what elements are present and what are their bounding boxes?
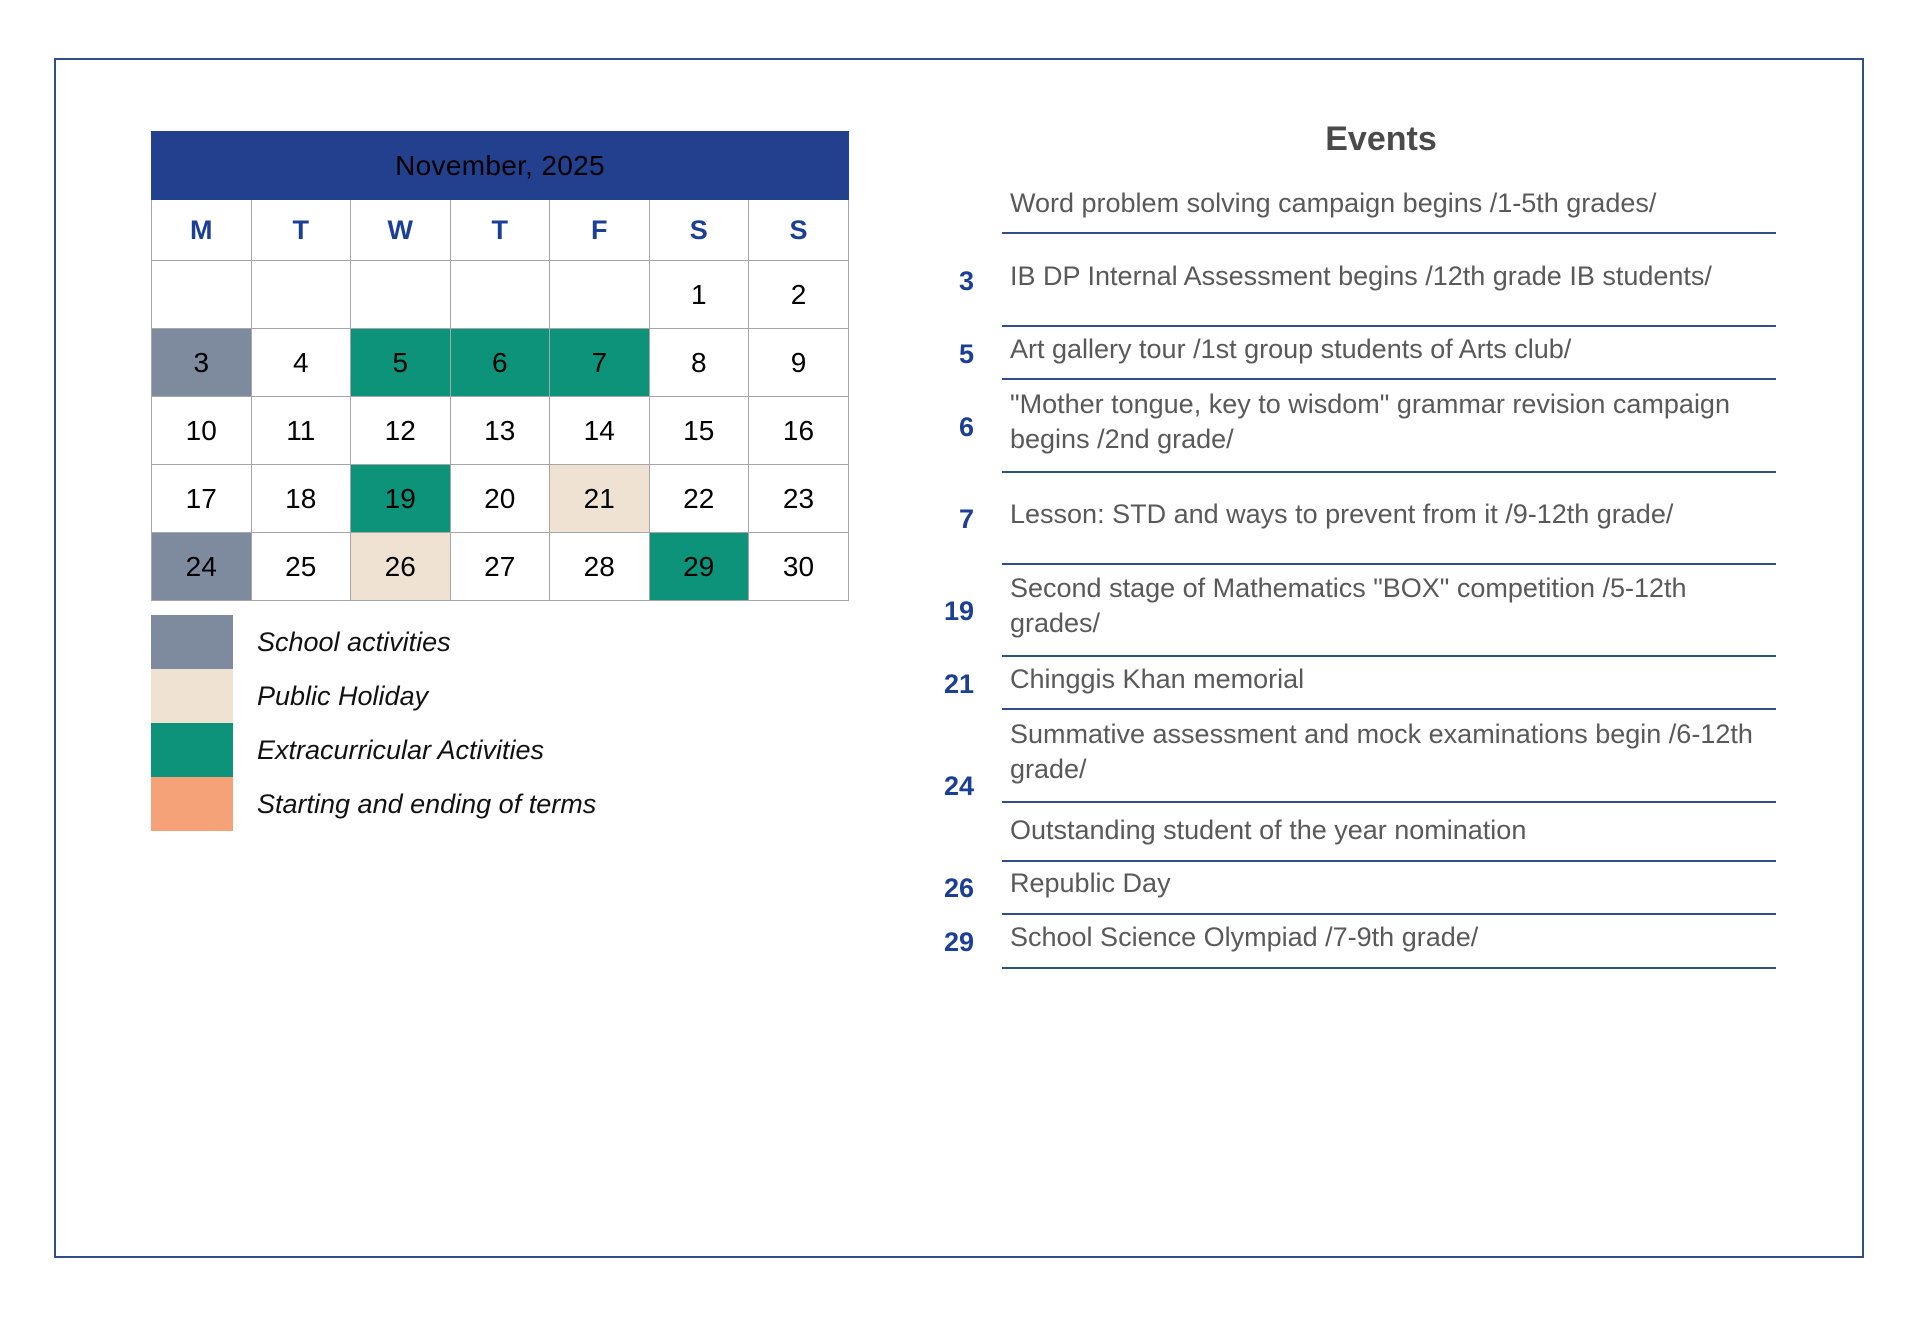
event-day-number: 26 xyxy=(926,862,1002,916)
calendar-day-17[interactable]: 17 xyxy=(152,465,252,533)
calendar-weekday-6: S xyxy=(749,200,849,261)
calendar-day-3[interactable]: 3 xyxy=(152,329,252,397)
calendar-day-11[interactable]: 11 xyxy=(251,397,351,465)
event-day-number: 29 xyxy=(926,916,1002,970)
event-texts: Summative assessment and mock examinatio… xyxy=(1002,711,1776,862)
calendar-body: 1234567891011121314151617181920212223242… xyxy=(152,261,849,601)
calendar-week-row: 10111213141516 xyxy=(152,397,849,465)
calendar-week-row: 17181920212223 xyxy=(152,465,849,533)
event-description: Second stage of Mathematics "BOX" compet… xyxy=(1002,565,1776,657)
event-texts: Second stage of Mathematics "BOX" compet… xyxy=(1002,565,1776,657)
event-day-number: 7 xyxy=(926,473,1002,565)
calendar-day-5[interactable]: 5 xyxy=(351,329,451,397)
event-row: 3IB DP Internal Assessment begins /12th … xyxy=(926,235,1776,327)
event-row: 21Chinggis Khan memorial xyxy=(926,657,1776,711)
calendar-weekday-1: T xyxy=(251,200,351,261)
legend-label: School activities xyxy=(257,627,451,658)
events-list: Word problem solving campaign begins /1-… xyxy=(926,181,1776,970)
calendar-day-6[interactable]: 6 xyxy=(450,329,550,397)
legend-swatch-icon xyxy=(151,669,233,723)
calendar-week-row: 12 xyxy=(152,261,849,329)
calendar-day-18[interactable]: 18 xyxy=(251,465,351,533)
event-description: Word problem solving campaign begins /1-… xyxy=(1002,182,1776,235)
event-day-number: 21 xyxy=(926,657,1002,711)
calendar-week-row: 24252627282930 xyxy=(152,533,849,601)
legend-item: School activities xyxy=(151,615,596,669)
calendar-day-empty xyxy=(251,261,351,329)
calendar-day-1[interactable]: 1 xyxy=(649,261,749,329)
calendar-day-26[interactable]: 26 xyxy=(351,533,451,601)
event-day-number xyxy=(926,181,1002,235)
calendar-day-28[interactable]: 28 xyxy=(550,533,650,601)
calendar-day-22[interactable]: 22 xyxy=(649,465,749,533)
event-day-number: 19 xyxy=(926,565,1002,657)
event-description: Art gallery tour /1st group students of … xyxy=(1002,328,1776,381)
calendar-week-row: 3456789 xyxy=(152,329,849,397)
event-day-number: 6 xyxy=(926,381,1002,473)
calendar-day-14[interactable]: 14 xyxy=(550,397,650,465)
calendar-day-24[interactable]: 24 xyxy=(152,533,252,601)
calendar-day-empty xyxy=(450,261,550,329)
calendar-day-30[interactable]: 30 xyxy=(749,533,849,601)
legend-label: Public Holiday xyxy=(257,681,428,712)
calendar-weekday-2: W xyxy=(351,200,451,261)
calendar-day-15[interactable]: 15 xyxy=(649,397,749,465)
calendar-month-title: November, 2025 xyxy=(152,132,849,200)
calendar-day-25[interactable]: 25 xyxy=(251,533,351,601)
event-texts: Republic Day xyxy=(1002,862,1776,916)
event-texts: Word problem solving campaign begins /1-… xyxy=(1002,181,1776,235)
calendar-weekday-3: T xyxy=(450,200,550,261)
calendar-panel: November, 2025 MTWTFSS 12345678910111213… xyxy=(151,131,849,601)
event-description: Republic Day xyxy=(1002,862,1776,915)
event-day-number: 5 xyxy=(926,327,1002,381)
event-row: 7Lesson: STD and ways to prevent from it… xyxy=(926,473,1776,565)
calendar-day-12[interactable]: 12 xyxy=(351,397,451,465)
event-description: Summative assessment and mock examinatio… xyxy=(1002,711,1776,803)
calendar-day-23[interactable]: 23 xyxy=(749,465,849,533)
calendar-day-10[interactable]: 10 xyxy=(152,397,252,465)
event-row: Word problem solving campaign begins /1-… xyxy=(926,181,1776,235)
event-texts: "Mother tongue, key to wisdom" grammar r… xyxy=(1002,381,1776,473)
event-description: IB DP Internal Assessment begins /12th g… xyxy=(1002,235,1776,327)
event-texts: Lesson: STD and ways to prevent from it … xyxy=(1002,473,1776,565)
calendar-day-7[interactable]: 7 xyxy=(550,329,650,397)
calendar-day-16[interactable]: 16 xyxy=(749,397,849,465)
calendar-day-8[interactable]: 8 xyxy=(649,329,749,397)
calendar-day-4[interactable]: 4 xyxy=(251,329,351,397)
event-description: School Science Olympiad /7-9th grade/ xyxy=(1002,916,1776,969)
calendar-table: November, 2025 MTWTFSS 12345678910111213… xyxy=(151,131,849,601)
event-row: 6"Mother tongue, key to wisdom" grammar … xyxy=(926,381,1776,473)
page-frame: November, 2025 MTWTFSS 12345678910111213… xyxy=(54,58,1864,1258)
event-texts: Chinggis Khan memorial xyxy=(1002,657,1776,711)
legend-label: Extracurricular Activities xyxy=(257,735,544,766)
calendar-day-27[interactable]: 27 xyxy=(450,533,550,601)
calendar-weekday-4: F xyxy=(550,200,650,261)
event-row: 24Summative assessment and mock examinat… xyxy=(926,711,1776,862)
legend-item: Starting and ending of terms xyxy=(151,777,596,831)
event-texts: School Science Olympiad /7-9th grade/ xyxy=(1002,916,1776,970)
event-texts: Art gallery tour /1st group students of … xyxy=(1002,327,1776,381)
event-day-number: 3 xyxy=(926,235,1002,327)
event-texts: IB DP Internal Assessment begins /12th g… xyxy=(1002,235,1776,327)
event-row: 26Republic Day xyxy=(926,862,1776,916)
calendar-day-13[interactable]: 13 xyxy=(450,397,550,465)
calendar-day-2[interactable]: 2 xyxy=(749,261,849,329)
calendar-day-9[interactable]: 9 xyxy=(749,329,849,397)
event-description: "Mother tongue, key to wisdom" grammar r… xyxy=(1002,381,1776,473)
calendar-weekday-5: S xyxy=(649,200,749,261)
calendar-weekday-header-row: MTWTFSS xyxy=(152,200,849,261)
calendar-day-empty xyxy=(152,261,252,329)
legend-swatch-icon xyxy=(151,777,233,831)
calendar-day-empty xyxy=(351,261,451,329)
event-row: 5Art gallery tour /1st group students of… xyxy=(926,327,1776,381)
event-description: Outstanding student of the year nominati… xyxy=(1002,803,1776,862)
legend-label: Starting and ending of terms xyxy=(257,789,596,820)
event-day-number: 24 xyxy=(926,711,1002,862)
legend: School activitiesPublic HolidayExtracurr… xyxy=(151,615,596,831)
calendar-weekday-0: M xyxy=(152,200,252,261)
event-row: 19Second stage of Mathematics "BOX" comp… xyxy=(926,565,1776,657)
calendar-day-29[interactable]: 29 xyxy=(649,533,749,601)
legend-item: Public Holiday xyxy=(151,669,596,723)
event-description: Chinggis Khan memorial xyxy=(1002,658,1776,711)
event-row: 29School Science Olympiad /7-9th grade/ xyxy=(926,916,1776,970)
legend-swatch-icon xyxy=(151,723,233,777)
legend-swatch-icon xyxy=(151,615,233,669)
calendar-day-20[interactable]: 20 xyxy=(450,465,550,533)
event-description: Lesson: STD and ways to prevent from it … xyxy=(1002,473,1776,565)
events-title: Events xyxy=(986,120,1776,159)
calendar-day-21[interactable]: 21 xyxy=(550,465,650,533)
calendar-day-19[interactable]: 19 xyxy=(351,465,451,533)
calendar-day-empty xyxy=(550,261,650,329)
events-panel: Events Word problem solving campaign beg… xyxy=(926,120,1776,970)
legend-item: Extracurricular Activities xyxy=(151,723,596,777)
